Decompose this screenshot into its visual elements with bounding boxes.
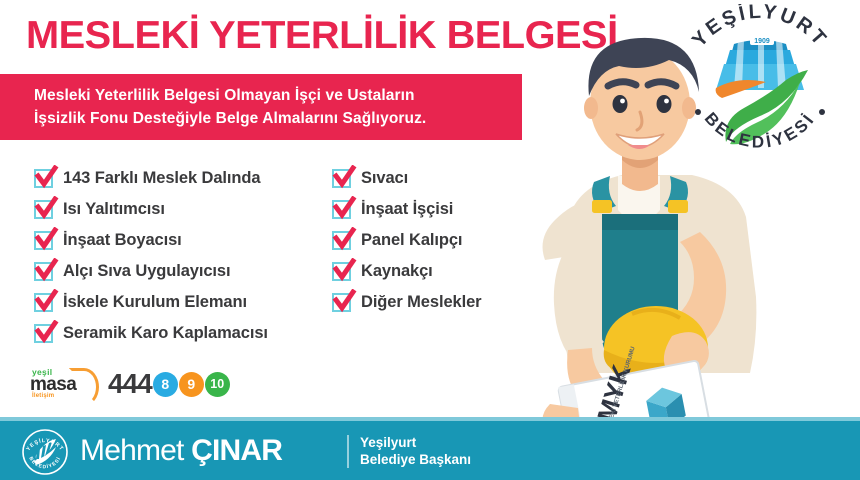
checkbox-checked-icon [34,324,53,343]
yesil-masa-logo: yeşil masa İletişim [30,366,94,402]
list-item: Isı Yalıtımcısı [34,194,268,225]
hotline-digit-3: 10 [205,372,230,397]
list-item: 143 Farklı Meslek Dalında [34,163,268,194]
footer-divider [347,435,349,468]
hotline-block: yeşil masa İletişim 444 8 9 10 [30,366,230,402]
mayor-role: Yeşilyurt Belediye Başkanı [360,434,471,468]
checklist-column-1: 143 Farklı Meslek Dalında Isı Yalıtımcıs… [34,163,268,349]
poster-root: MESLEKİ YETERLİLİK BELGESİ Mesleki Yeter… [0,0,860,480]
yesilyurt-belediyesi-logo: 1909 YEŞİLYURT BELEDİYESİ [672,4,848,164]
hotline-digit-2: 9 [179,372,204,397]
list-item-label: İskele Kurulum Elemanı [63,293,247,312]
mayor-last-name: ÇINAR [191,434,282,467]
mayor-role-line-1: Yeşilyurt [360,434,471,451]
list-item: Alçı Sıva Uygulayıcısı [34,256,268,287]
mayor-role-line-2: Belediye Başkanı [360,451,471,468]
hotline-prefix: 444 [108,368,152,400]
subtitle-line-1: Mesleki Yeterlilik Belgesi Olmayan İşçi … [34,87,415,105]
checkbox-checked-icon [332,262,351,281]
list-item-label: Seramik Karo Kaplamacısı [63,324,268,343]
list-item: İskele Kurulum Elemanı [34,287,268,318]
hotline-digit-1: 8 [153,372,178,397]
list-item-label: İnşaat İşçisi [361,200,453,219]
checkbox-checked-icon [34,231,53,250]
checkbox-checked-icon [34,169,53,188]
mayor-first-name: Mehmet [80,434,191,467]
list-item-label: Kaynakçı [361,262,433,281]
list-item-label: 143 Farklı Meslek Dalında [63,169,260,188]
checkbox-checked-icon [332,200,351,219]
yesil-masa-sub-text: İletişim [32,393,54,399]
checkbox-checked-icon [34,200,53,219]
subtitle-line-2: İşsizlik Fonu Desteğiyle Belge Almaların… [34,110,426,128]
list-item-label: İnşaat Boyacısı [63,231,182,250]
list-item: Seramik Karo Kaplamacısı [34,318,268,349]
emblem-year: 1909 [754,38,770,45]
list-item: İnşaat Boyacısı [34,225,268,256]
checkbox-checked-icon [332,293,351,312]
list-item-label: Panel Kalıpçı [361,231,462,250]
footer-bar: YEŞİLYURT BELEDİYESİ Mehmet ÇINAR Yeşily… [0,421,860,480]
subtitle-band: Mesleki Yeterlilik Belgesi Olmayan İşçi … [0,74,522,140]
list-item-label: Isı Yalıtımcısı [63,200,165,219]
checkbox-checked-icon [34,293,53,312]
checkbox-checked-icon [34,262,53,281]
swoosh-icon [69,368,99,406]
footer-seal-logo: YEŞİLYURT BELEDİYESİ [22,429,68,475]
list-item-label: Sıvacı [361,169,408,188]
list-item-label: Alçı Sıva Uygulayıcısı [63,262,230,281]
mayor-name: Mehmet ÇINAR [80,434,282,468]
checkbox-checked-icon [332,231,351,250]
checkbox-checked-icon [332,169,351,188]
